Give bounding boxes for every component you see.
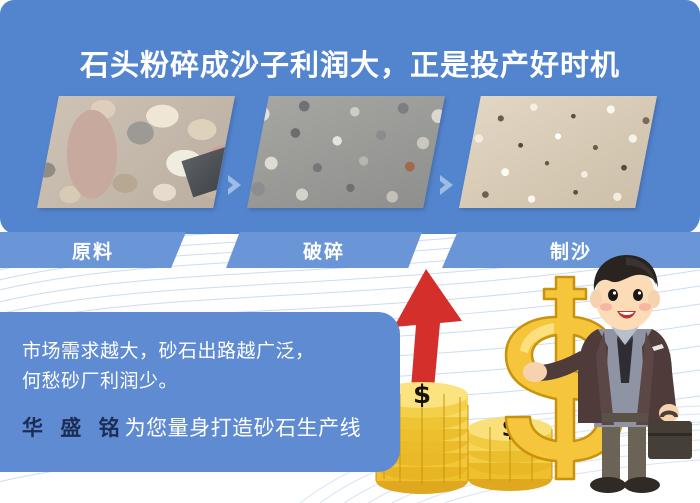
stage-photo-raw-material xyxy=(37,96,235,208)
chevron-right-icon xyxy=(224,172,250,198)
crushed-gravel-photo xyxy=(247,96,445,208)
chevron-right-icon xyxy=(436,172,462,198)
promo-poster: 石头粉碎成沙子利润大，正是投产好时机 原料 破碎 制沙 xyxy=(0,0,700,503)
stage-label-text: 原料 xyxy=(72,237,114,264)
page-title: 石头粉碎成沙子利润大，正是投产好时机 xyxy=(0,45,700,85)
brand-slogan: 华 盛 铭为您量身打造砂石生产线 xyxy=(22,412,361,442)
message-line-1: 市场需求越大，砂石出路越广泛， xyxy=(22,336,315,366)
stage-photo-crushing xyxy=(247,96,445,208)
slogan-text: 为您量身打造砂石生产线 xyxy=(125,416,362,440)
stage-label-text: 破碎 xyxy=(303,237,345,264)
stage-photo-sand-making xyxy=(459,96,657,208)
message-line-2: 何愁砂厂利润少。 xyxy=(22,366,178,396)
manufactured-sand-photo xyxy=(459,96,657,208)
message-panel: 市场需求越大，砂石出路越广泛， 何愁砂厂利润少。 华 盛 铭为您量身打造砂石生产… xyxy=(0,312,400,472)
stage-label-raw-material: 原料 xyxy=(0,232,186,268)
river-stones-photo xyxy=(37,96,235,208)
brand-name: 华 盛 铭 xyxy=(22,416,125,440)
business-illustration: $ $ xyxy=(370,255,700,503)
svg-text:$: $ xyxy=(413,380,431,410)
